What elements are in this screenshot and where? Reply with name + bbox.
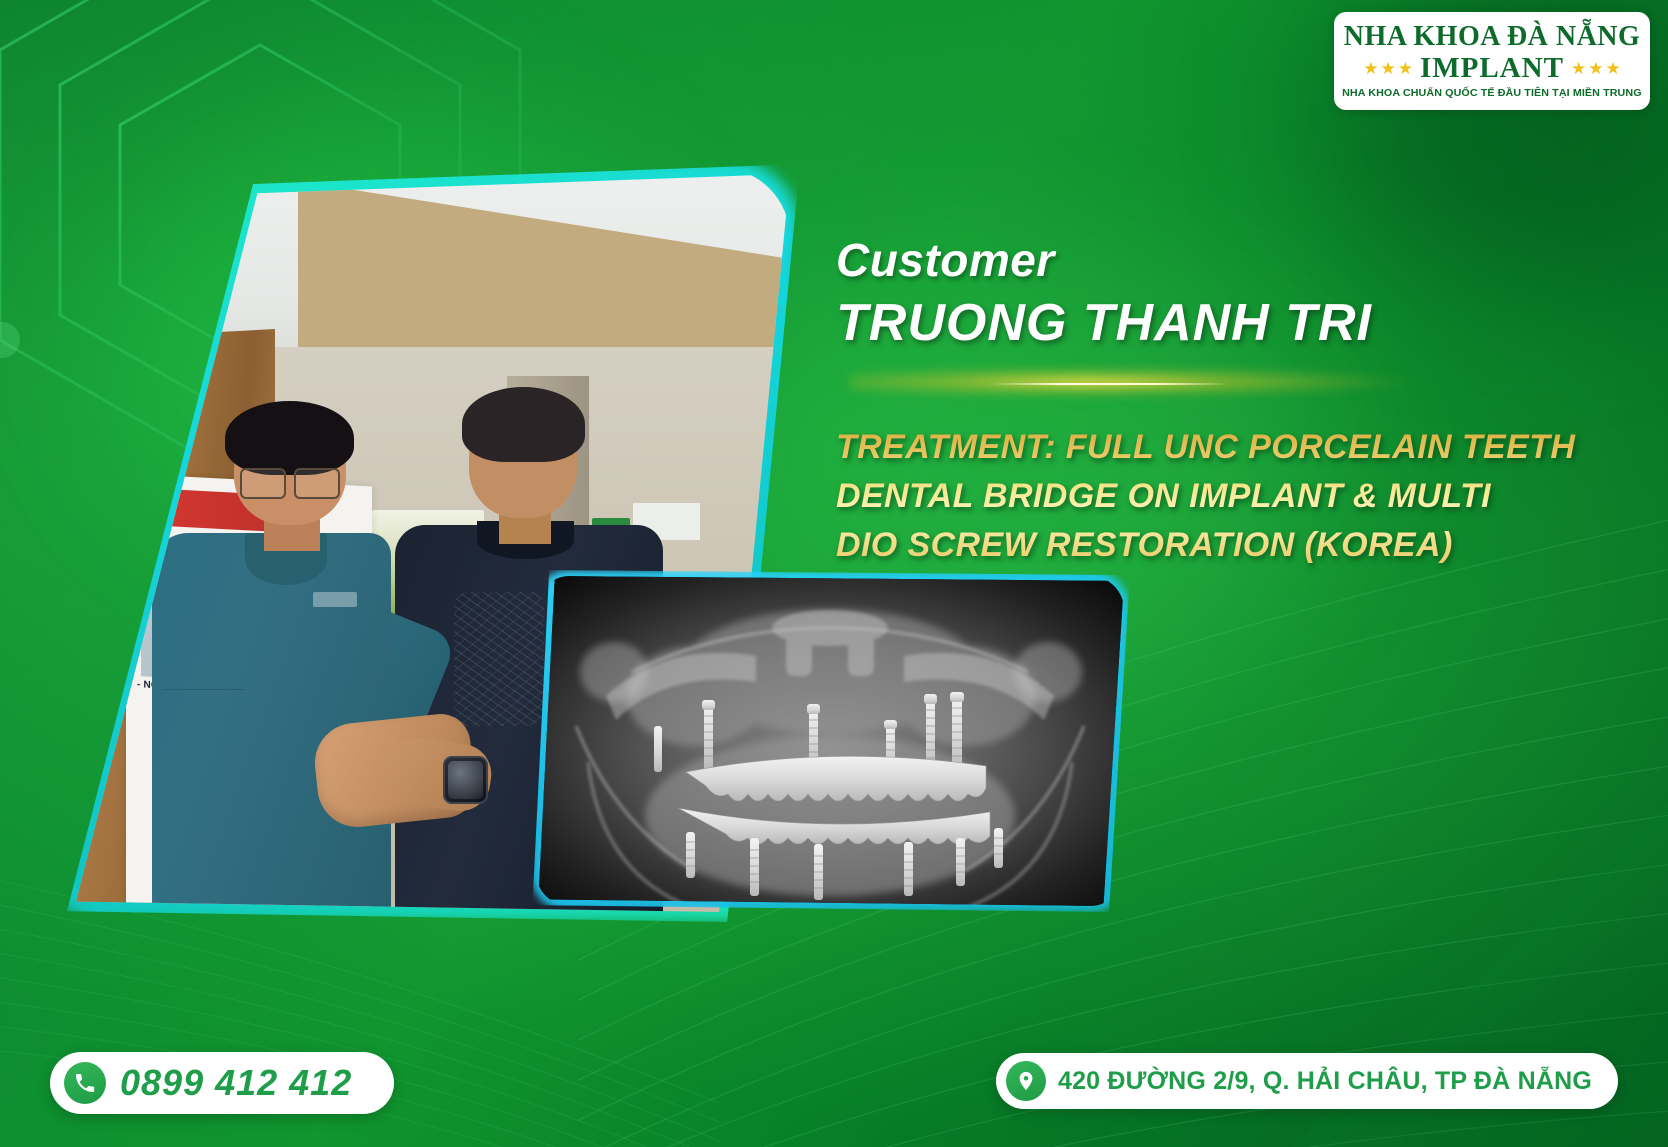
logo-stars-right: ★ ★ ★ [1571,60,1621,77]
treatment-line-3: DIO SCREW RESTORATION (KOREA) [836,521,1596,570]
logo-implant-word: IMPLANT [1420,54,1564,83]
photo-patient-hair [462,387,585,461]
photo-dentist-badge [313,592,358,607]
photo-patient-shirt-pattern [454,592,544,726]
logo-tagline: NHA KHOA CHUẨN QUỐC TẾ ĐẦU TIÊN TẠI MIỀN… [1342,87,1642,99]
logo-implant-row: ★ ★ ★ IMPLANT ★ ★ ★ [1363,54,1620,83]
poster-canvas: NHA KHOA ĐÀ NẴNG ★ ★ ★ IMPLANT ★ ★ ★ NHA… [0,0,1668,1147]
panoramic-xray-image [536,576,1124,906]
treatment-description: TREATMENT: FULL UNC PORCELAIN TEETH DENT… [836,423,1596,571]
xray-card [536,576,1124,906]
photo-wristwatch [443,756,488,804]
treatment-line-1: TREATMENT: FULL UNC PORCELAIN TEETH [836,423,1596,472]
star-icon: ★ [1398,60,1413,77]
customer-name: TRUONG THANH TRI [836,296,1596,351]
map-pin-icon [1006,1061,1046,1101]
photo-dentist-pocket [163,689,245,786]
logo-stars-left: ★ ★ ★ [1363,60,1413,77]
star-icon: ★ [1571,60,1586,77]
customer-label: Customer [836,236,1596,284]
text-column: Customer TRUONG THANH TRI TREATMENT: FUL… [836,236,1596,571]
phone-number: 0899 412 412 [120,1062,352,1104]
photo-dentist-hair [225,401,353,475]
star-icon: ★ [1363,60,1378,77]
phone-icon [64,1062,106,1104]
xray-frame [536,576,1124,906]
star-icon: ★ [1605,60,1620,77]
gold-divider [836,379,1536,389]
address-text: 420 ĐƯỜNG 2/9, Q. HẢI CHÂU, TP ĐÀ NẴNG [1058,1067,1592,1096]
star-icon: ★ [1588,60,1603,77]
photo-dentist-glasses [240,468,340,495]
treatment-line-2: DENTAL BRIDGE ON IMPLANT & MULTI [836,472,1596,521]
logo-title: NHA KHOA ĐÀ NẴNG [1344,23,1641,51]
star-icon: ★ [1381,60,1396,77]
divider-glow [850,367,1424,397]
address-pill[interactable]: 420 ĐƯỜNG 2/9, Q. HẢI CHÂU, TP ĐÀ NẴNG [996,1053,1618,1109]
phone-contact-pill[interactable]: 0899 412 412 [50,1052,394,1114]
clinic-logo: NHA KHOA ĐÀ NẴNG ★ ★ ★ IMPLANT ★ ★ ★ NHA… [1334,12,1650,110]
